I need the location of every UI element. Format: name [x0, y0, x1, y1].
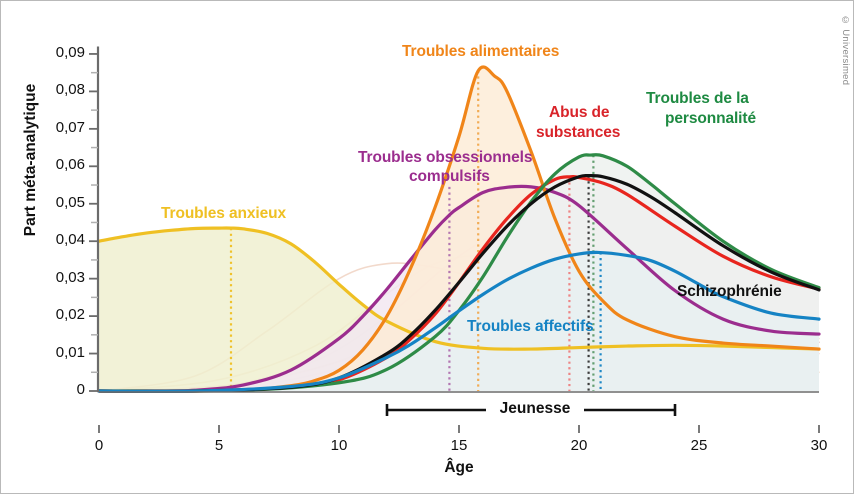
x-tick-label: 5 — [179, 437, 259, 454]
x-axis-title: Âge — [419, 459, 499, 477]
series-label-personnalite-line1: Troubles de la — [646, 89, 749, 108]
y-tick-label: 0,06 — [25, 156, 85, 173]
chart-figure: Part méta-analytique 0,09 0,08 0,07 0,06… — [0, 0, 854, 494]
series-label-toc-line2: compulsifs — [409, 167, 490, 186]
series-label-personnalite-line2: personnalité — [665, 109, 756, 128]
series-label-troubles-affectifs: Troubles affectifs — [467, 317, 594, 336]
y-tick-label: 0,01 — [25, 344, 85, 361]
x-tick-label: 25 — [659, 437, 739, 454]
y-tick-label: 0,03 — [25, 269, 85, 286]
chart-canvas — [1, 1, 854, 494]
series-label-toc-line1: Troubles obsessionnels — [358, 148, 532, 167]
x-tick-label: 10 — [299, 437, 379, 454]
copyright-notice: © Universimed — [840, 15, 851, 85]
x-tick-label: 30 — [779, 437, 854, 454]
x-tick-label: 20 — [539, 437, 619, 454]
series-label-schizophrenie: Schizophrénie — [677, 282, 782, 301]
jeunesse-bracket-label: Jeunesse — [486, 400, 584, 418]
series-label-troubles-alimentaires: Troubles alimentaires — [402, 42, 559, 61]
series-label-abus-line2: substances — [536, 123, 620, 142]
series-label-troubles-anxieux: Troubles anxieux — [161, 204, 286, 223]
y-tick-label: 0,05 — [25, 194, 85, 211]
y-tick-label: 0,02 — [25, 306, 85, 323]
y-tick-label: 0,09 — [25, 44, 85, 61]
x-tick-label: 15 — [419, 437, 499, 454]
x-tick-label: 0 — [59, 437, 139, 454]
y-tick-label: 0 — [25, 381, 85, 398]
y-tick-label: 0,07 — [25, 119, 85, 136]
y-tick-label: 0,08 — [25, 81, 85, 98]
y-tick-label: 0,04 — [25, 231, 85, 248]
series-label-abus-line1: Abus de — [549, 103, 609, 122]
